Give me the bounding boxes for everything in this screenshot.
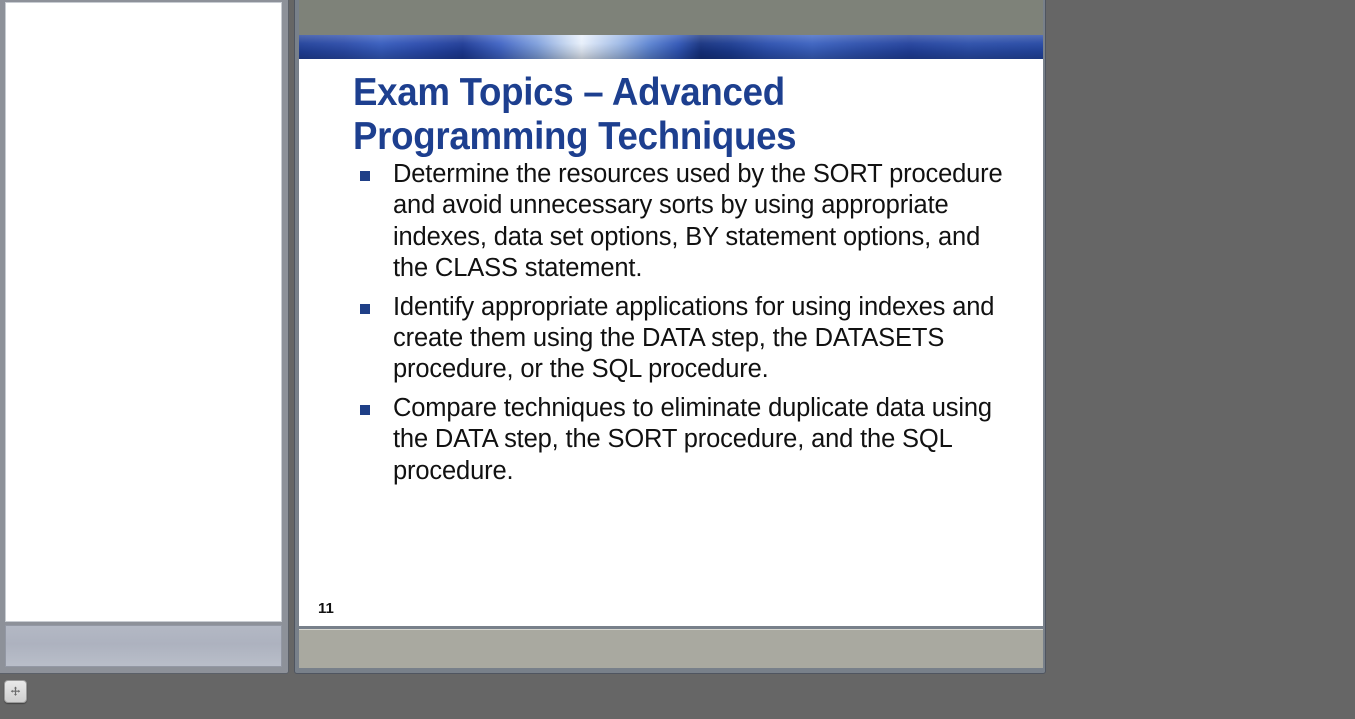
slide-title: Exam Topics – Advanced Programming Techn… <box>353 71 917 159</box>
slide-banner-sheen <box>299 35 1043 59</box>
bullet-item: Determine the resources used by the SORT… <box>355 159 1015 285</box>
slide-window[interactable]: Exam Topics – Advanced Programming Techn… <box>294 0 1046 674</box>
slide-window-titlebar <box>299 0 1043 35</box>
bullet-item: Compare techniques to eliminate duplicat… <box>355 393 1015 487</box>
move-arrows-icon <box>10 686 21 697</box>
move-handle-button[interactable] <box>4 680 27 703</box>
slide-banner-decoration <box>299 35 1043 59</box>
slide-surface[interactable]: Exam Topics – Advanced Programming Techn… <box>299 35 1043 626</box>
notes-page-surface[interactable] <box>5 2 282 622</box>
notes-panel[interactable] <box>0 0 289 674</box>
bullet-text: Compare techniques to eliminate duplicat… <box>393 394 992 485</box>
notes-panel-footer[interactable] <box>5 625 282 667</box>
notes-clipped-top-text <box>12 3 132 8</box>
square-bullet-icon <box>360 304 370 314</box>
bullet-item: Identify appropriate applications for us… <box>355 292 1015 386</box>
bullet-text: Determine the resources used by the SORT… <box>393 160 1003 282</box>
slide-window-footer <box>299 629 1043 668</box>
slide-number: 11 <box>318 601 334 616</box>
square-bullet-icon <box>360 405 370 415</box>
bullet-text: Identify appropriate applications for us… <box>393 293 994 384</box>
square-bullet-icon <box>360 171 370 181</box>
slide-bullet-list: Determine the resources used by the SORT… <box>355 159 1015 494</box>
